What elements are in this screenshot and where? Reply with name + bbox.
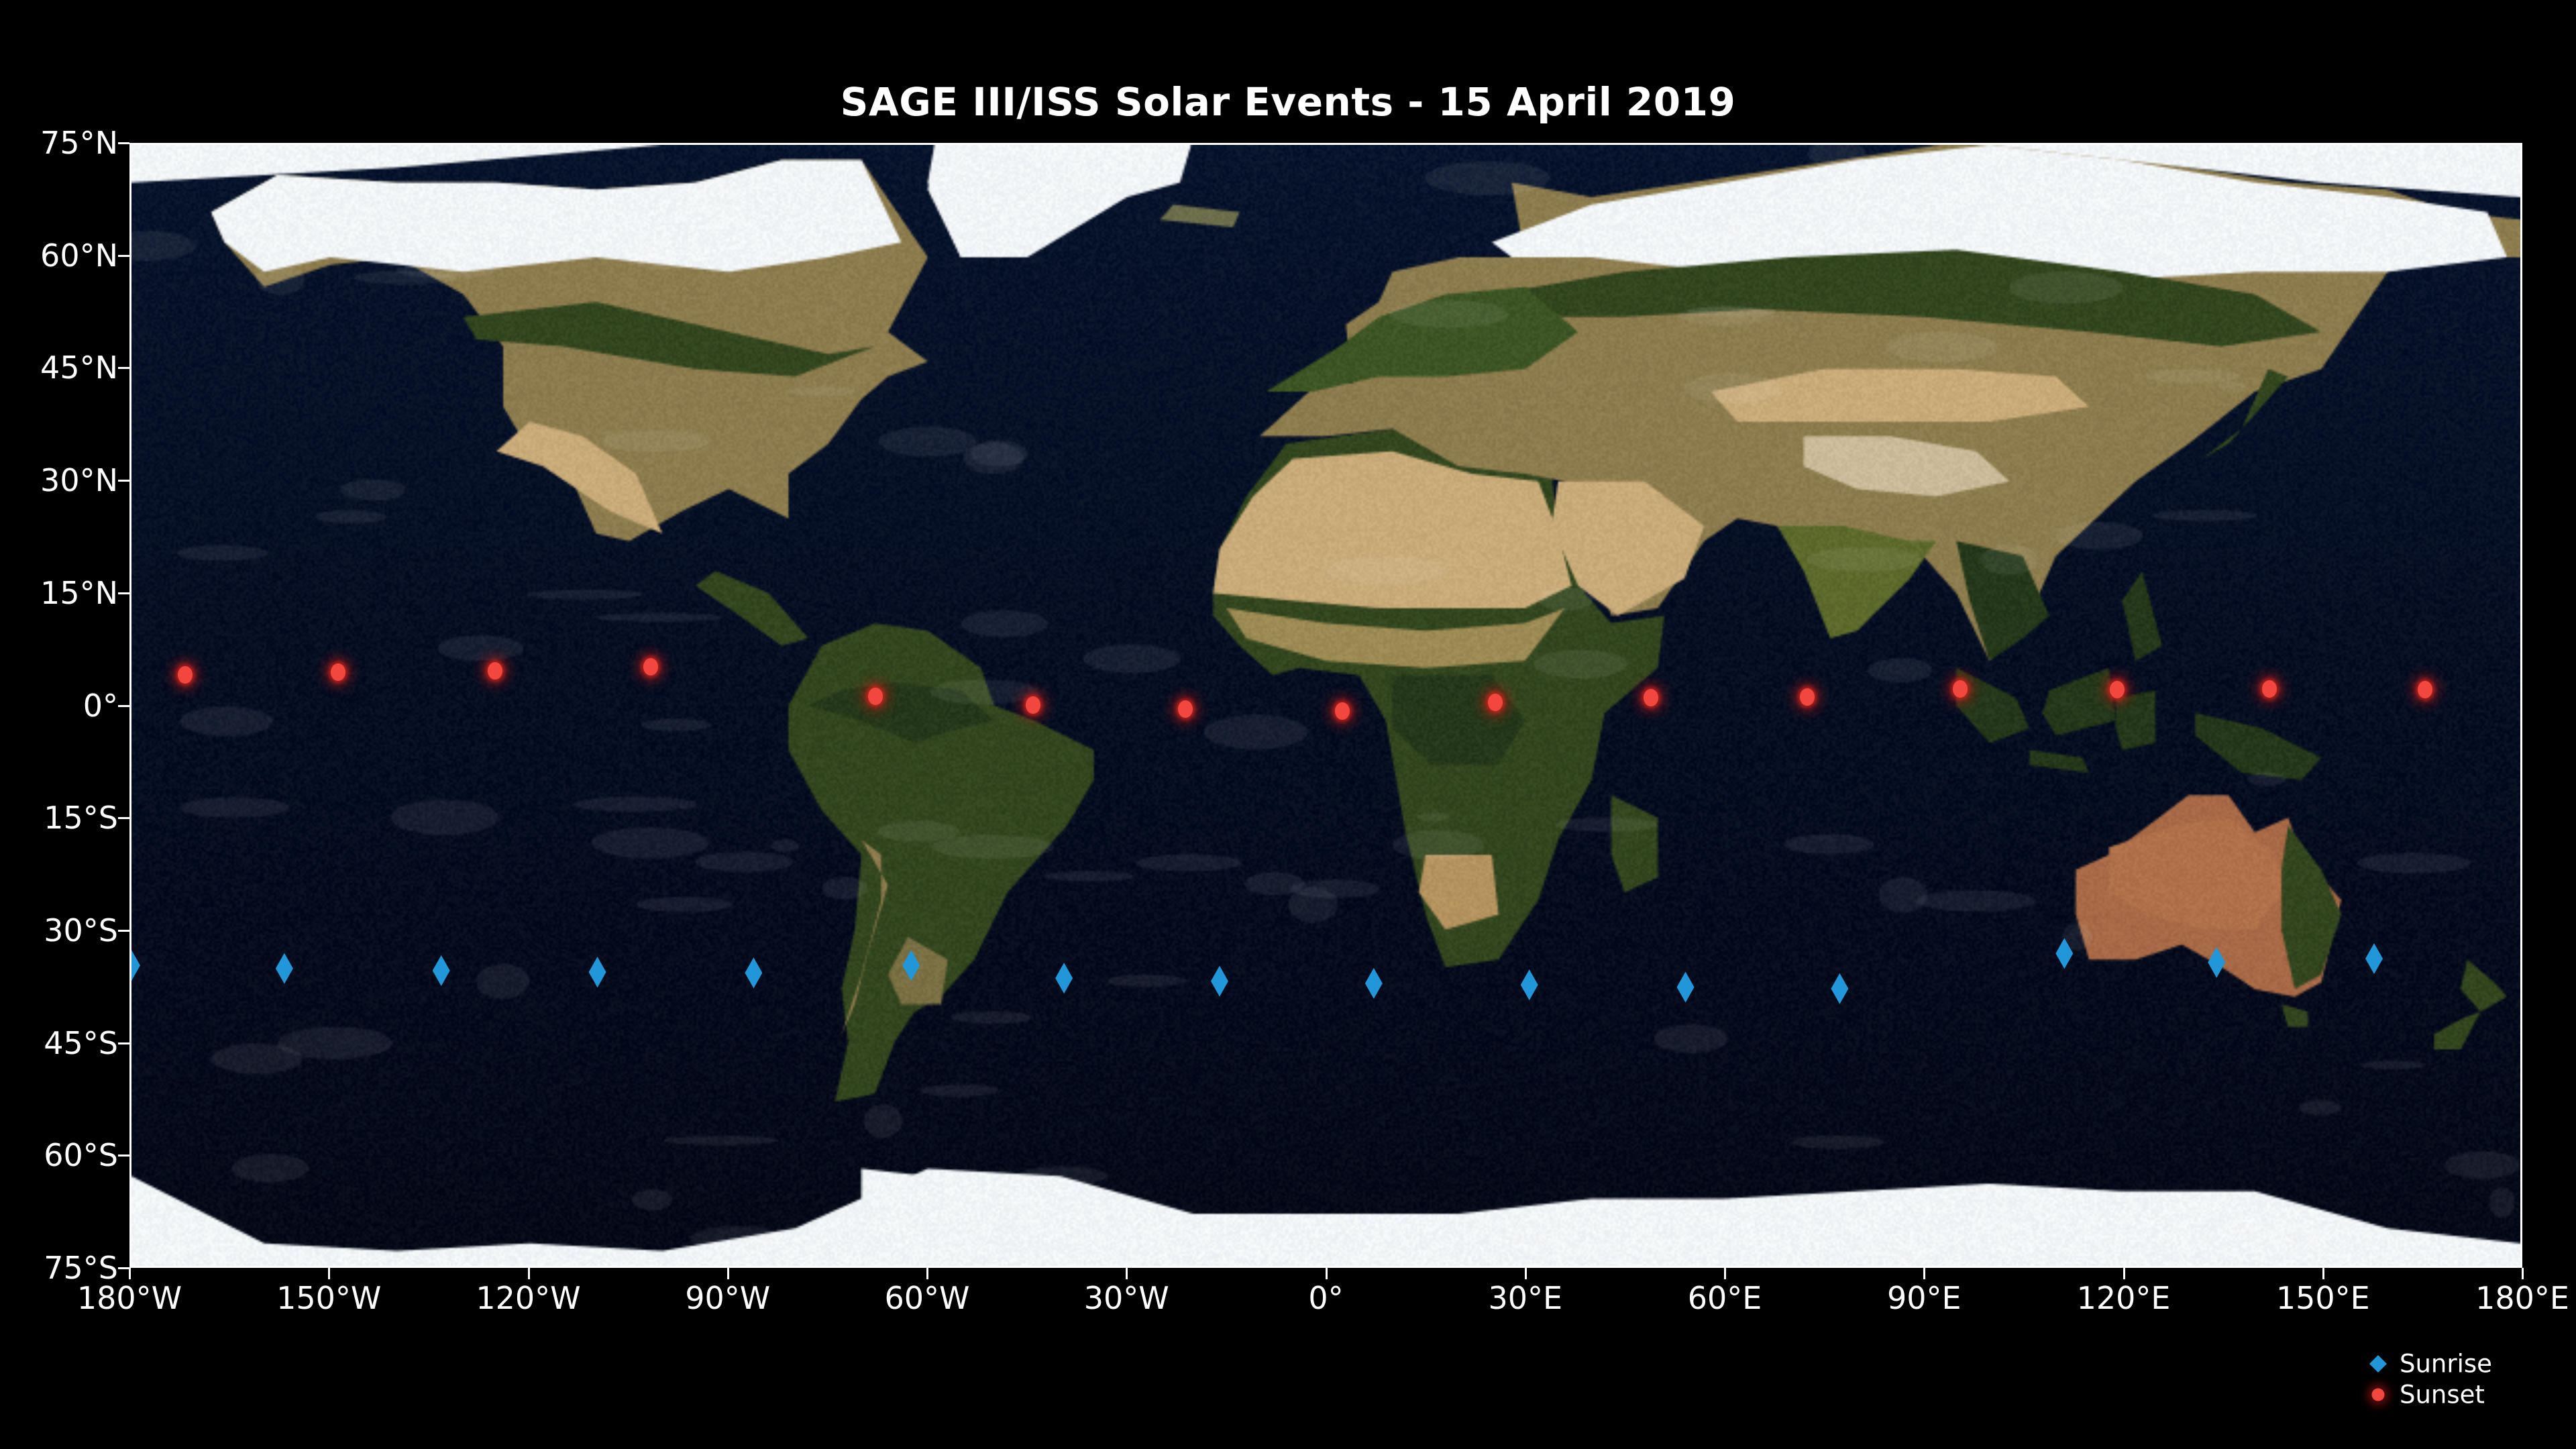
x-tick-2 <box>528 1268 530 1279</box>
legend-item-sunset[interactable]: Sunset <box>2365 1379 2566 1410</box>
y-tick-4 <box>118 592 129 594</box>
sunrise-marker-icon <box>2369 1355 2387 1373</box>
x-tick-label-7: 30°E <box>1488 1280 1562 1316</box>
legend-label-sunrise: Sunrise <box>2400 1350 2492 1379</box>
x-tick-label-4: 60°W <box>884 1280 969 1316</box>
y-tick-label-8: 45°S <box>44 1025 118 1061</box>
x-tick-label-5: 30°W <box>1084 1280 1169 1316</box>
figure-root: SAGE III/ISS Solar Events - 15 April 201… <box>0 0 2576 1449</box>
y-tick-label-3: 30°N <box>40 462 118 498</box>
x-tick-label-8: 60°E <box>1688 1280 1762 1316</box>
x-tick-1 <box>328 1268 330 1279</box>
y-tick-label-1: 60°N <box>40 237 118 274</box>
y-tick-7 <box>118 930 129 932</box>
x-tick-7 <box>1525 1268 1527 1279</box>
y-tick-label-5: 0° <box>83 688 118 724</box>
x-tick-label-1: 150°W <box>276 1280 381 1316</box>
y-tick-8 <box>118 1042 129 1044</box>
page-title: SAGE III/ISS Solar Events - 15 April 201… <box>0 79 2576 125</box>
y-tick-6 <box>118 817 129 819</box>
y-tick-1 <box>118 255 129 257</box>
y-tick-label-7: 30°S <box>44 912 118 949</box>
x-tick-0 <box>129 1268 131 1279</box>
x-tick-8 <box>1724 1268 1726 1279</box>
x-tick-label-2: 120°W <box>476 1280 580 1316</box>
map-plot-area <box>129 143 2522 1268</box>
x-tick-label-10: 120°E <box>2077 1280 2171 1316</box>
world-basemap-image <box>131 145 2520 1266</box>
y-tick-label-4: 15°N <box>40 575 118 611</box>
x-tick-label-6: 0° <box>1308 1280 1343 1316</box>
y-tick-label-2: 45°N <box>40 350 118 386</box>
y-tick-label-0: 75°N <box>40 125 118 161</box>
y-tick-label-9: 60°S <box>44 1137 118 1173</box>
x-tick-10 <box>2123 1268 2125 1279</box>
legend-item-sunrise[interactable]: Sunrise <box>2365 1348 2566 1379</box>
sunset-marker-icon <box>2372 1389 2385 1401</box>
x-tick-label-9: 90°E <box>1887 1280 1962 1316</box>
x-tick-label-11: 150°E <box>2276 1280 2370 1316</box>
x-tick-3 <box>727 1268 729 1279</box>
y-tick-3 <box>118 480 129 482</box>
x-tick-5 <box>1126 1268 1128 1279</box>
y-tick-label-6: 15°S <box>44 800 118 836</box>
x-tick-6 <box>1326 1268 1328 1279</box>
y-tick-label-10: 75°S <box>44 1250 118 1286</box>
y-tick-5 <box>118 705 129 707</box>
legend: SunriseSunset <box>2365 1348 2566 1410</box>
y-tick-2 <box>118 367 129 369</box>
y-tick-9 <box>118 1155 129 1157</box>
x-tick-11 <box>2322 1268 2324 1279</box>
y-tick-10 <box>118 1267 129 1269</box>
y-tick-0 <box>118 142 129 144</box>
x-tick-label-3: 90°W <box>685 1280 770 1316</box>
legend-label-sunset: Sunset <box>2400 1381 2485 1409</box>
x-tick-12 <box>2522 1268 2524 1279</box>
x-tick-9 <box>1923 1268 1925 1279</box>
x-tick-label-12: 180°E <box>2475 1280 2569 1316</box>
x-tick-4 <box>926 1268 928 1279</box>
